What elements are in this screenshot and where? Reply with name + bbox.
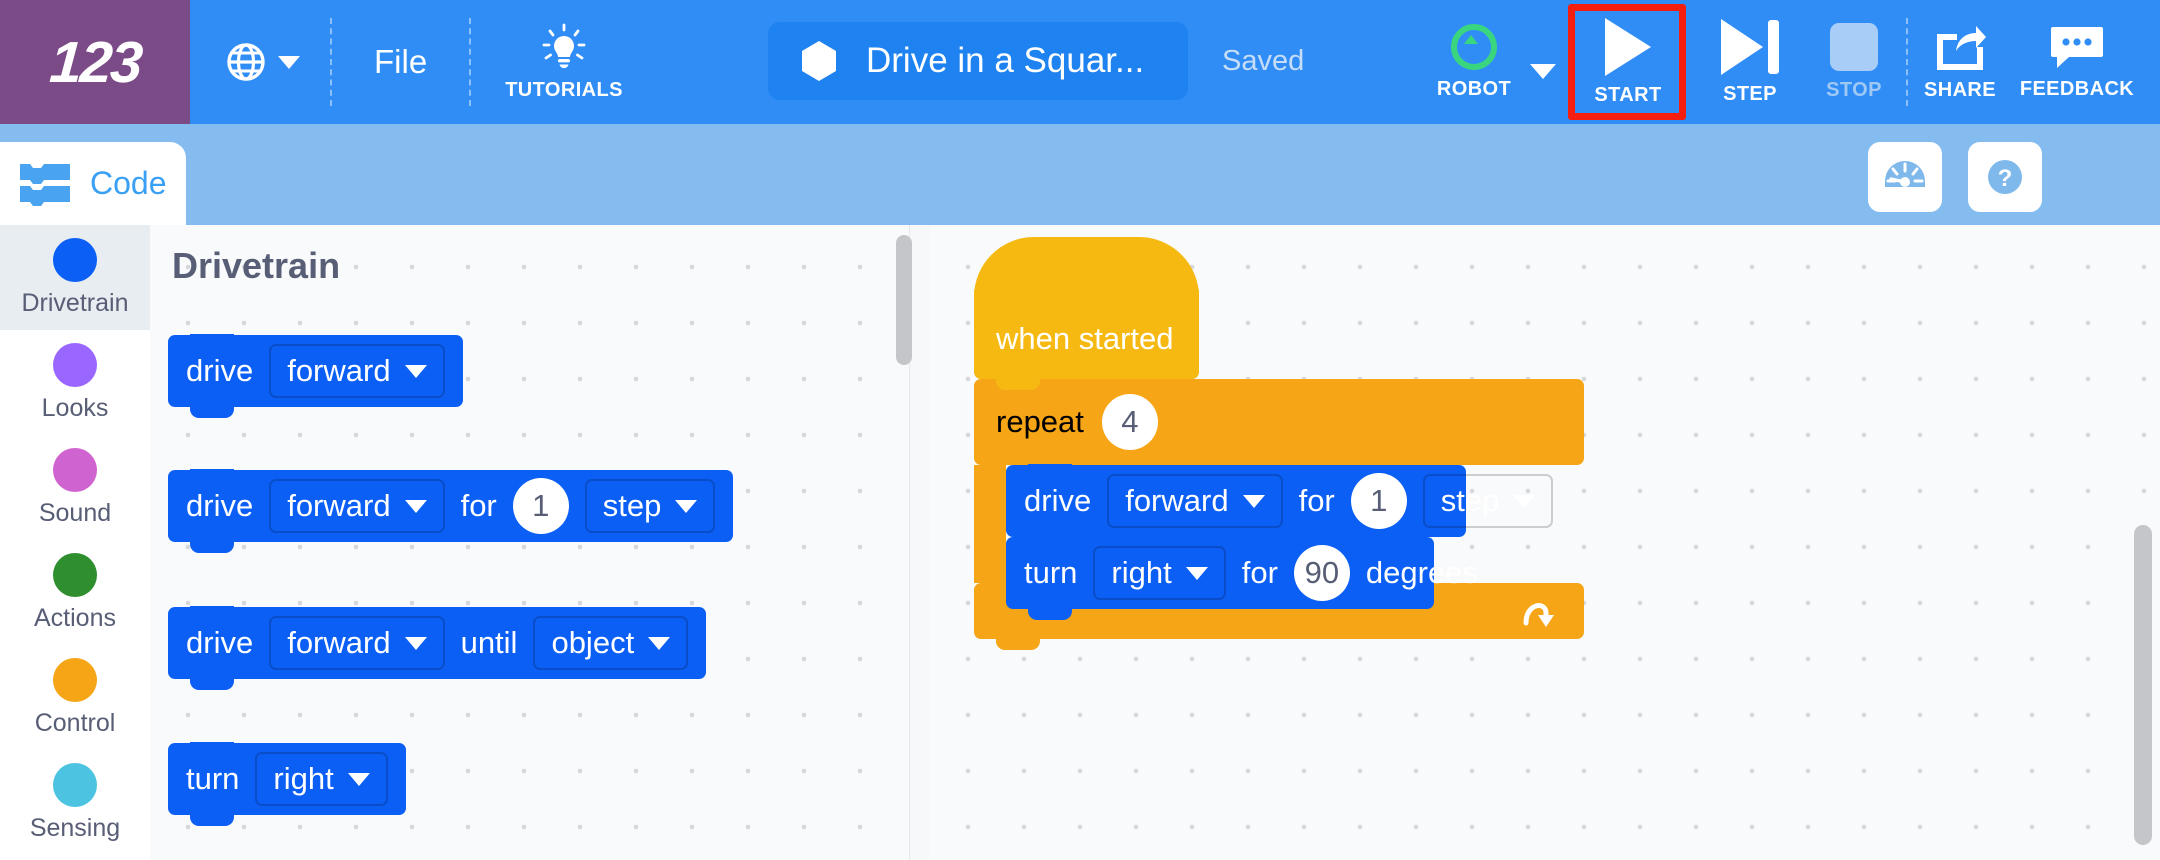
subheader-actions: ?: [1868, 142, 2042, 212]
block-label: drive: [186, 488, 253, 524]
toolbar-right-group: ROBOT START STEP STOP SHARE: [1422, 0, 2160, 124]
control-color-dot: [53, 658, 97, 702]
chevron-down-icon: [405, 365, 427, 378]
sidebar-item-label: Sensing: [30, 814, 120, 843]
stop-button[interactable]: STOP: [1802, 0, 1906, 124]
top-toolbar: 123 File: [0, 0, 2160, 124]
dropdown-value: object: [551, 625, 634, 661]
feedback-button[interactable]: FEEDBACK: [2012, 0, 2142, 124]
block-label: for: [461, 488, 497, 524]
tab-code[interactable]: Code: [0, 142, 186, 225]
direction-dropdown[interactable]: forward: [269, 616, 444, 670]
robot-control[interactable]: ROBOT: [1422, 0, 1526, 124]
hexagon-icon: [798, 38, 840, 84]
amount-input[interactable]: 1: [513, 478, 569, 534]
palette-block-drive-direction[interactable]: drive forward: [168, 335, 463, 407]
sidebar-item-label: Sound: [39, 499, 111, 528]
block-label: drive: [1024, 483, 1091, 519]
block-label: until: [461, 625, 518, 661]
svg-text:?: ?: [1998, 165, 2013, 192]
palette-scrollbar[interactable]: [896, 235, 912, 365]
palette-block-drive-until[interactable]: drive forward until object: [168, 607, 706, 679]
sidebar-item-drivetrain[interactable]: Drivetrain: [0, 225, 150, 330]
code-blocks-icon: [18, 160, 76, 208]
dropdown-value: right: [273, 761, 333, 797]
app-logo: 123: [0, 0, 190, 124]
sensing-color-dot: [53, 763, 97, 807]
repeat-count-input[interactable]: 4: [1102, 394, 1158, 450]
palette-block-turn-direction[interactable]: turn right: [168, 743, 406, 815]
chevron-down-icon: [1513, 495, 1535, 508]
share-button[interactable]: SHARE: [1908, 0, 2012, 124]
block-label: degrees: [1366, 555, 1478, 591]
file-menu-label: File: [374, 43, 427, 81]
block-drive-for-steps[interactable]: drive forward for 1 step: [1006, 465, 1466, 537]
turn-direction-dropdown[interactable]: right: [255, 752, 387, 806]
palette-category-title: Drivetrain: [172, 245, 340, 287]
repeat-header[interactable]: repeat 4: [974, 379, 1584, 465]
toolbar-left-group: File TUTORIALS: [190, 0, 657, 124]
share-icon: [1934, 23, 1986, 71]
dropdown-value: step: [1441, 483, 1500, 519]
workspace-scrollbar[interactable]: [2134, 525, 2152, 845]
project-name-field[interactable]: Drive in a Squar...: [768, 22, 1188, 100]
palette-block-drive-for-steps[interactable]: drive forward for 1 step: [168, 470, 733, 542]
block-label: when started: [996, 321, 1174, 357]
block-repeat-loop[interactable]: repeat 4 drive forward for 1: [974, 379, 1584, 639]
turn-direction-dropdown[interactable]: right: [1093, 546, 1225, 600]
stop-label: STOP: [1826, 79, 1882, 102]
tutorials-button[interactable]: TUTORIALS: [471, 0, 657, 124]
chevron-down-icon[interactable]: [1530, 64, 1556, 79]
block-label: turn: [186, 761, 239, 797]
sidebar-item-label: Actions: [34, 604, 116, 633]
unit-dropdown[interactable]: step: [1423, 474, 1554, 528]
step-forward-icon: [1721, 19, 1779, 75]
block-palette[interactable]: Drivetrain drive forward drive forward f…: [150, 225, 910, 860]
globe-icon: [226, 42, 266, 82]
chevron-down-icon: [278, 56, 300, 69]
loop-left-arm: [974, 465, 1006, 583]
sub-header: Code ?: [0, 124, 2160, 225]
block-when-started[interactable]: when started: [974, 285, 1199, 379]
stop-square-icon: [1830, 23, 1878, 71]
dropdown-value: right: [1111, 555, 1171, 591]
save-status-label: Saved: [1222, 45, 1304, 78]
block-label: for: [1299, 483, 1335, 519]
sidebar-item-looks[interactable]: Looks: [0, 330, 150, 435]
lightbulb-icon: [539, 23, 589, 73]
language-selector[interactable]: [190, 0, 330, 124]
file-menu-button[interactable]: File: [332, 0, 469, 124]
project-name-text: Drive in a Squar...: [866, 41, 1144, 81]
direction-dropdown[interactable]: forward: [269, 479, 444, 533]
loop-arrow-icon: [1516, 589, 1556, 633]
block-label: for: [1242, 555, 1278, 591]
sidebar-item-sound[interactable]: Sound: [0, 435, 150, 540]
project-title-group: Drive in a Squar... Saved: [768, 22, 1304, 100]
sidebar-item-label: Control: [35, 709, 116, 738]
direction-dropdown[interactable]: forward: [1107, 474, 1282, 528]
chevron-down-icon: [1186, 567, 1208, 580]
block-label: drive: [186, 353, 253, 389]
chevron-down-icon: [648, 637, 670, 650]
code-workspace[interactable]: when started repeat 4 drive forward: [930, 225, 2160, 860]
chevron-down-icon: [675, 500, 697, 513]
until-target-dropdown[interactable]: object: [533, 616, 688, 670]
step-button[interactable]: STEP: [1698, 0, 1802, 124]
robot-status-ring-icon: [1451, 24, 1497, 70]
dashboard-gauge-icon: [1881, 155, 1929, 199]
dropdown-value: step: [603, 488, 662, 524]
block-label: repeat: [996, 404, 1084, 440]
sidebar-item-label: Drivetrain: [22, 289, 129, 318]
sidebar-item-label: Looks: [42, 394, 109, 423]
dropdown-value: forward: [287, 353, 390, 389]
sound-color-dot: [53, 448, 97, 492]
dropdown-value: forward: [287, 625, 390, 661]
chevron-down-icon: [1243, 495, 1265, 508]
question-mark-icon: ?: [1981, 155, 2029, 199]
tutorials-label: TUTORIALS: [505, 79, 623, 102]
category-sidebar: Drivetrain Looks Sound Actions Control S…: [0, 225, 150, 860]
help-button[interactable]: ?: [1968, 142, 2042, 212]
tab-code-label: Code: [90, 165, 167, 202]
robot-label: ROBOT: [1437, 78, 1511, 101]
dropdown-value: forward: [1125, 483, 1228, 519]
share-label: SHARE: [1924, 79, 1996, 102]
amount-input[interactable]: 1: [1351, 473, 1407, 529]
dropdown-value: forward: [287, 488, 390, 524]
chevron-down-icon: [405, 637, 427, 650]
actions-color-dot: [53, 553, 97, 597]
sidebar-item-control[interactable]: Control: [0, 645, 150, 750]
looks-color-dot: [53, 343, 97, 387]
block-label: drive: [186, 625, 253, 661]
unit-dropdown[interactable]: step: [585, 479, 716, 533]
play-icon: [1605, 18, 1651, 76]
sidebar-item-actions[interactable]: Actions: [0, 540, 150, 645]
chevron-down-icon: [348, 773, 370, 786]
robot-button[interactable]: ROBOT: [1422, 0, 1556, 124]
dashboard-button[interactable]: [1868, 142, 1942, 212]
block-turn-degrees[interactable]: turn right for 90 degrees: [1006, 537, 1434, 609]
comment-dots-icon: [2049, 24, 2105, 70]
direction-dropdown[interactable]: forward: [269, 344, 444, 398]
hat-block-cap: [974, 237, 1199, 297]
chevron-down-icon: [405, 500, 427, 513]
feedback-label: FEEDBACK: [2020, 78, 2134, 101]
start-button[interactable]: START: [1576, 0, 1680, 124]
start-label: START: [1594, 84, 1661, 107]
sidebar-item-sensing[interactable]: Sensing: [0, 750, 150, 855]
drivetrain-color-dot: [53, 238, 97, 282]
main-area: Drivetrain Looks Sound Actions Control S…: [0, 225, 2160, 860]
step-label: STEP: [1723, 83, 1777, 106]
degrees-input[interactable]: 90: [1294, 545, 1350, 601]
logo-text: 123: [47, 29, 142, 96]
block-label: turn: [1024, 555, 1077, 591]
